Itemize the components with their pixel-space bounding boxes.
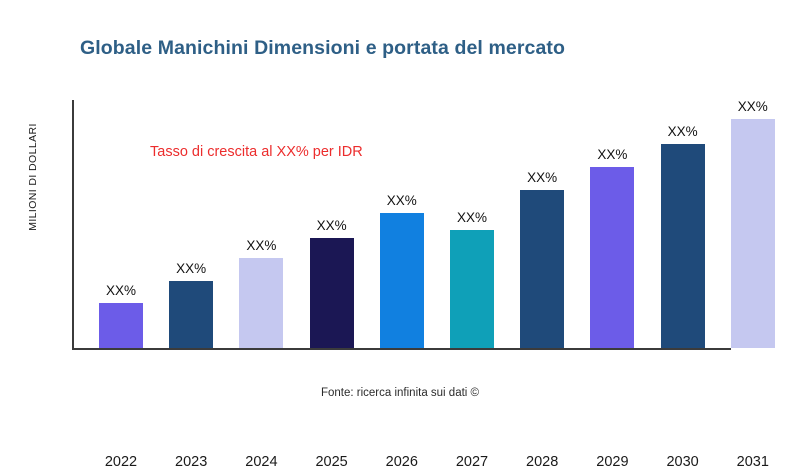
bar-2031[interactable] (731, 119, 775, 348)
bar-2027[interactable] (450, 230, 494, 348)
bar-group[interactable]: XX% (520, 171, 564, 349)
bar-group[interactable]: XX% (380, 194, 424, 349)
x-axis-tick-2025: 2025 (297, 454, 367, 470)
bar-value-label: XX% (387, 194, 417, 208)
bar-2024[interactable] (239, 258, 283, 348)
x-axis-tick-2029: 2029 (577, 454, 647, 470)
x-axis-tick-2023: 2023 (156, 454, 226, 470)
bar-2025[interactable] (310, 238, 354, 348)
bar-2026[interactable] (380, 213, 424, 348)
bar-group[interactable]: XX% (169, 262, 213, 349)
x-axis-tick-2030: 2030 (648, 454, 718, 470)
x-axis-line (72, 348, 731, 350)
source-note: Fonte: ricerca infinita sui dati © (0, 387, 800, 399)
plot-area: XX%2022XX%2023XX%2024XX%2025XX%2026XX%20… (72, 100, 782, 348)
x-axis-tick-2031: 2031 (718, 454, 788, 470)
y-axis-label-wrapper: MILIONI DI DOLLARI (22, 62, 44, 292)
bar-value-label: XX% (527, 171, 557, 185)
bar-2028[interactable] (520, 190, 564, 348)
bar-2023[interactable] (169, 281, 213, 348)
x-axis-tick-2028: 2028 (507, 454, 577, 470)
bar-group[interactable]: XX% (99, 284, 143, 349)
bar-2022[interactable] (99, 303, 143, 348)
bar-value-label: XX% (457, 211, 487, 225)
x-axis-tick-2027: 2027 (437, 454, 507, 470)
bar-value-label: XX% (738, 100, 768, 114)
bar-value-label: XX% (106, 284, 136, 298)
bar-value-label: XX% (176, 262, 206, 276)
x-axis-tick-2024: 2024 (226, 454, 296, 470)
bar-group[interactable]: XX% (590, 148, 634, 349)
bar-group[interactable]: XX% (731, 100, 775, 349)
bar-group[interactable]: XX% (450, 211, 494, 349)
bar-group[interactable]: XX% (310, 219, 354, 349)
bar-value-label: XX% (317, 219, 347, 233)
bar-2029[interactable] (590, 167, 634, 348)
y-axis-label: MILIONI DI DOLLARI (27, 123, 39, 231)
x-axis-tick-2022: 2022 (86, 454, 156, 470)
bar-2030[interactable] (661, 144, 705, 348)
bar-value-label: XX% (246, 239, 276, 253)
bar-group[interactable]: XX% (661, 125, 705, 349)
bar-group[interactable]: XX% (239, 239, 283, 349)
bar-value-label: XX% (597, 148, 627, 162)
chart-title: Globale Manichini Dimensioni e portata d… (80, 37, 740, 60)
chart-container: Globale Manichini Dimensioni e portata d… (0, 0, 800, 450)
bar-value-label: XX% (668, 125, 698, 139)
x-axis-tick-2026: 2026 (367, 454, 437, 470)
